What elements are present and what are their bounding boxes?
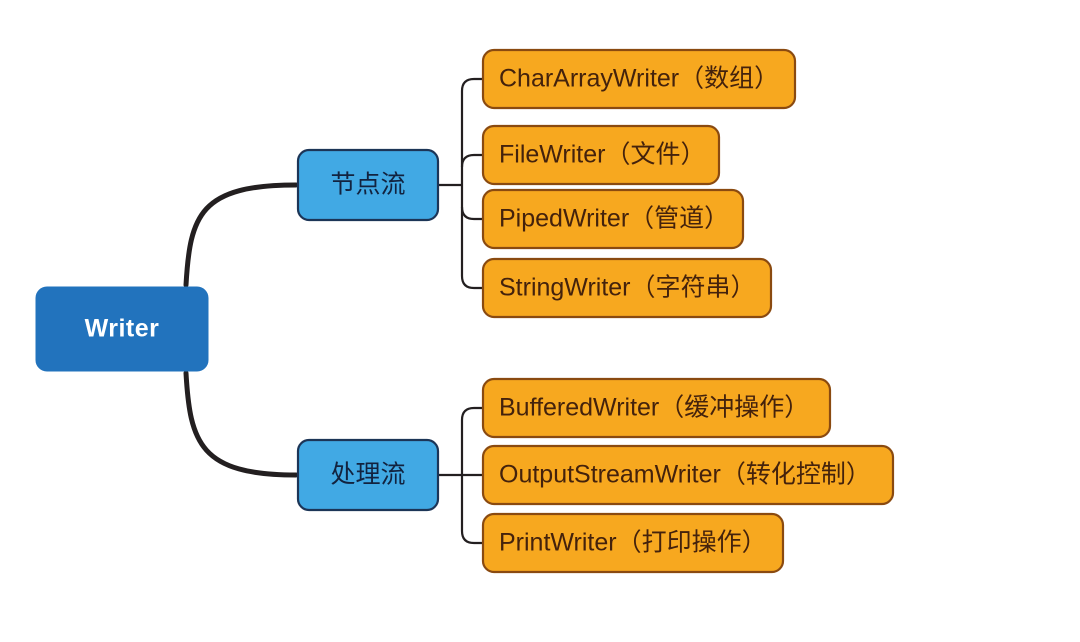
root-node[interactable]: Writer xyxy=(36,287,208,371)
leaf-node-piped-writer[interactable]: PipedWriter（管道） xyxy=(483,190,743,248)
mind-map-canvas: Writer节点流CharArrayWriter（数组）FileWriter（文… xyxy=(0,0,1080,642)
branch-node-processing-stream[interactable]: 处理流 xyxy=(298,440,438,510)
leaf-node-label-piped-writer: PipedWriter（管道） xyxy=(499,205,729,233)
nodes-layer: Writer节点流CharArrayWriter（数组）FileWriter（文… xyxy=(36,50,893,572)
root-node-label: Writer xyxy=(85,315,160,343)
root-to-branch-connector xyxy=(186,373,296,475)
leaf-node-char-array-writer[interactable]: CharArrayWriter（数组） xyxy=(483,50,795,108)
leaf-connector-piped-writer xyxy=(462,207,483,219)
leaf-node-output-stream-writer[interactable]: OutputStreamWriter（转化控制） xyxy=(483,446,893,504)
leaf-connector-print-writer xyxy=(462,531,483,543)
leaf-node-string-writer[interactable]: StringWriter（字符串） xyxy=(483,259,771,317)
root-to-branch-connector xyxy=(186,185,296,285)
branch-node-label-processing-stream: 处理流 xyxy=(330,461,405,489)
leaf-node-buffered-writer[interactable]: BufferedWriter（缓冲操作） xyxy=(483,379,830,437)
leaf-node-label-output-stream-writer: OutputStreamWriter（转化控制） xyxy=(499,461,871,489)
leaf-connector-char-array-writer xyxy=(462,79,483,91)
leaf-node-file-writer[interactable]: FileWriter（文件） xyxy=(483,126,719,184)
leaf-node-label-file-writer: FileWriter（文件） xyxy=(499,141,705,169)
leaf-node-label-print-writer: PrintWriter（打印操作） xyxy=(499,529,767,557)
leaf-node-label-char-array-writer: CharArrayWriter（数组） xyxy=(499,65,779,93)
leaf-connector-buffered-writer xyxy=(462,408,483,420)
mind-map-svg: Writer节点流CharArrayWriter（数组）FileWriter（文… xyxy=(0,0,1080,642)
branch-node-node-stream[interactable]: 节点流 xyxy=(298,150,438,220)
leaf-node-print-writer[interactable]: PrintWriter（打印操作） xyxy=(483,514,783,572)
leaf-connector-string-writer xyxy=(462,276,483,288)
leaf-node-label-buffered-writer: BufferedWriter（缓冲操作） xyxy=(499,394,809,422)
leaf-connector-file-writer xyxy=(462,155,483,167)
branch-node-label-node-stream: 节点流 xyxy=(330,171,405,199)
leaf-node-label-string-writer: StringWriter（字符串） xyxy=(499,274,756,302)
